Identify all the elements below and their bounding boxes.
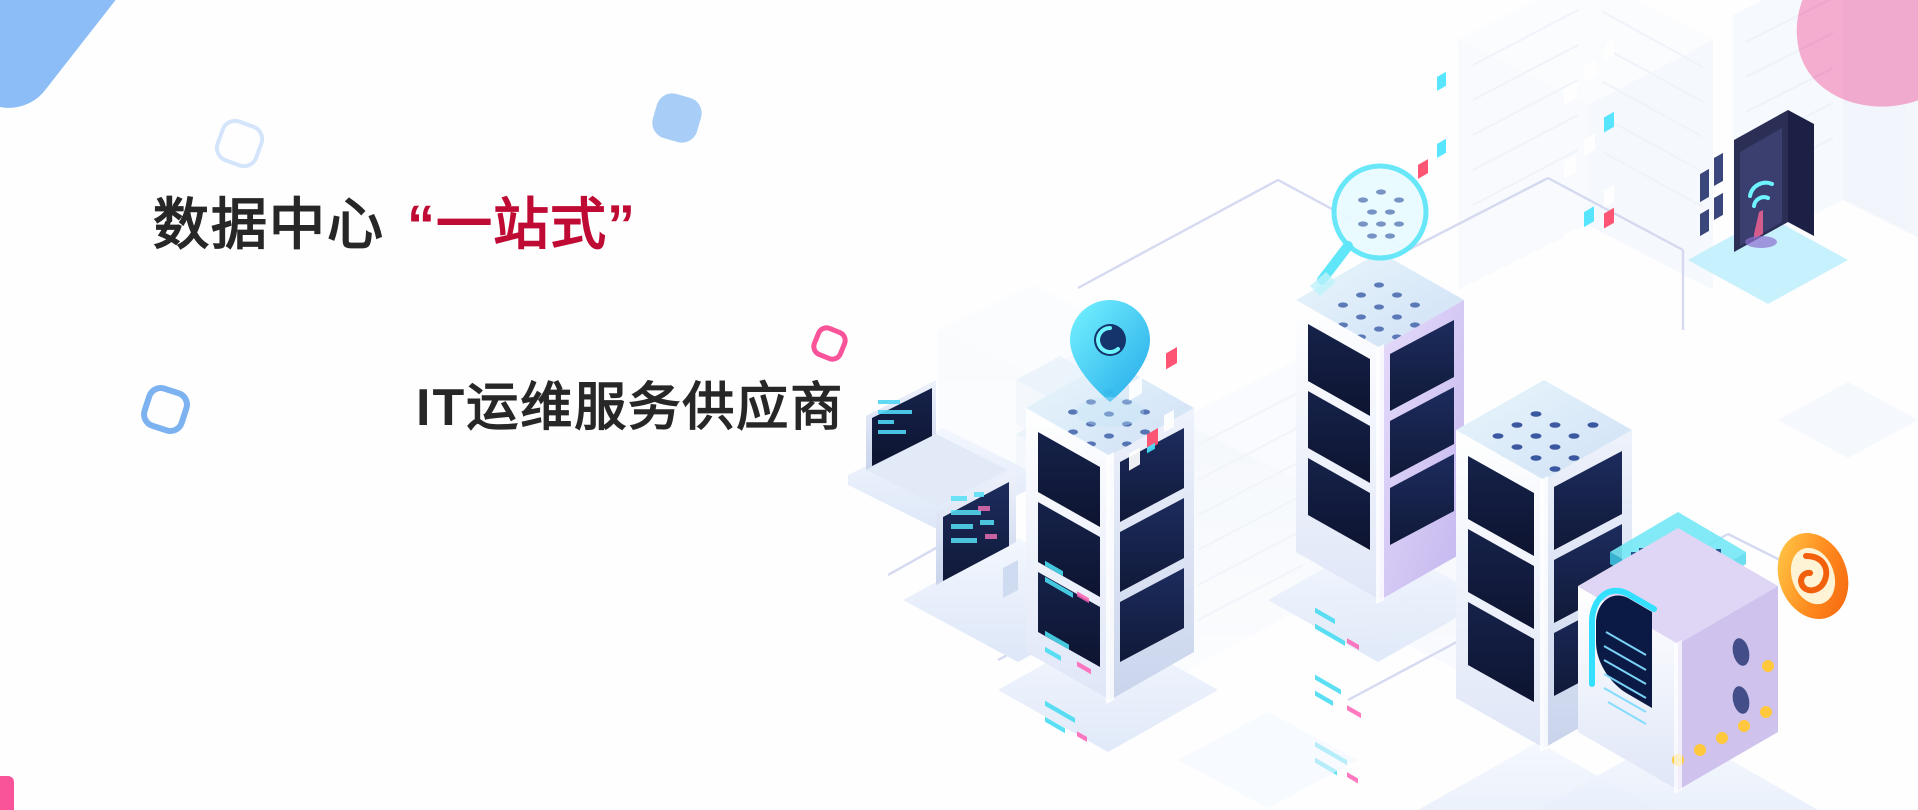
promo-banner: 数据中心“一站式” IT运维服务供应商 xyxy=(0,0,1918,810)
headline-accent: “一站式” xyxy=(407,193,636,256)
tablet-wifi-icon xyxy=(1688,110,1848,304)
background-buildings xyxy=(938,0,1918,675)
corner-pink-blob xyxy=(1779,0,1918,126)
accent-ring-pink-icon xyxy=(808,322,851,365)
headline-block: 数据中心“一站式” IT运维服务供应商 xyxy=(153,190,913,260)
cooling-cabinet xyxy=(1538,153,1818,810)
magnifier-icon xyxy=(1310,166,1426,296)
ghost-plates xyxy=(1178,382,1918,808)
network-connector-lines xyxy=(888,178,1808,700)
server-rack-right xyxy=(1418,39,1658,810)
laptop-screen xyxy=(848,380,1048,532)
headline-line-1: 数据中心“一站式” xyxy=(153,190,913,260)
accent-ring-light-blue-icon xyxy=(211,115,269,173)
location-pin-icon xyxy=(1070,300,1150,427)
orange-spiral-coin xyxy=(1766,523,1860,629)
corner-pink-bottom-bar xyxy=(0,776,14,810)
corner-blue-shape xyxy=(0,0,158,126)
accent-ring-blue-icon xyxy=(137,381,194,438)
headline-line-2: IT运维服务供应商 xyxy=(416,365,844,440)
ghost-server-small xyxy=(1016,356,1103,500)
accent-filled-blue-icon xyxy=(649,90,706,147)
server-rack-left xyxy=(998,267,1218,752)
monitor-screen xyxy=(903,470,1133,662)
headline-prefix: 数据中心 xyxy=(153,193,385,256)
datacenter-illustration xyxy=(848,0,1918,810)
server-rack-center xyxy=(1268,3,1488,784)
